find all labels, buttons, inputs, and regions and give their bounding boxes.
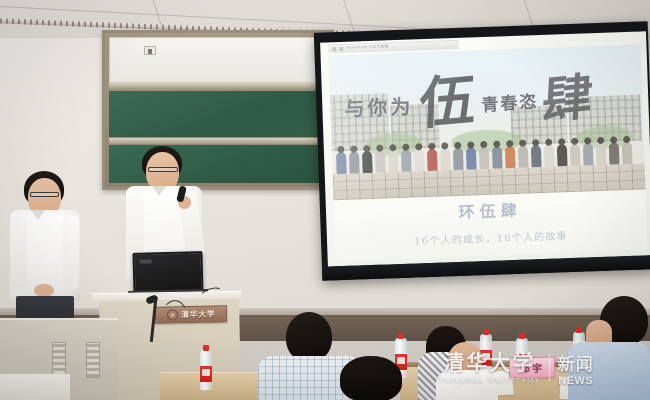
glasses-icon <box>148 167 178 172</box>
collar <box>31 210 45 220</box>
blackboard-panel-upper <box>109 91 327 137</box>
hair <box>340 356 402 400</box>
glasses-icon <box>30 192 59 197</box>
chalk-ledge <box>109 138 327 144</box>
slide-hero-banner: 与你为 伍 青春恣 肆 <box>329 45 646 201</box>
name-card: 邓宇 <box>509 357 555 379</box>
water-bottle <box>200 350 212 390</box>
classroom-photo: PowerPoint 幻灯片放映 <box>0 0 650 400</box>
vent-grille <box>86 342 100 378</box>
desk-front <box>0 374 70 400</box>
arm-left <box>10 216 27 290</box>
torso <box>436 370 498 400</box>
vent-grille <box>52 342 66 378</box>
whiteboard-panel <box>109 37 327 83</box>
slide-subtitle: 16个人的成长，16个人的故事 <box>414 227 568 247</box>
slide-title: 环伍肆 <box>458 196 522 222</box>
water-bottle <box>480 334 492 374</box>
name-card-text: 邓宇 <box>520 360 544 375</box>
head <box>286 312 332 362</box>
laptop-logo <box>140 259 152 263</box>
toolbar-icon <box>339 46 343 50</box>
collar <box>152 186 166 196</box>
toolbar-hint: PowerPoint 幻灯片放映 <box>346 44 388 50</box>
blackboard <box>102 30 334 190</box>
slide: 与你为 伍 青春恣 肆 环伍肆 16个人的成长，16个人的故事 <box>329 45 648 261</box>
chalk-ledge <box>109 83 327 89</box>
wall-socket <box>144 46 156 55</box>
screen-surface: PowerPoint 幻灯片放映 <box>320 31 650 266</box>
slide-footer: 环伍肆 16个人的成长，16个人的故事 <box>334 189 648 260</box>
toolbar-icon <box>332 47 336 51</box>
projection-screen: PowerPoint 幻灯片放映 <box>314 21 650 281</box>
torso <box>568 342 650 400</box>
arm-right <box>62 216 79 290</box>
bottle-label <box>200 366 212 382</box>
